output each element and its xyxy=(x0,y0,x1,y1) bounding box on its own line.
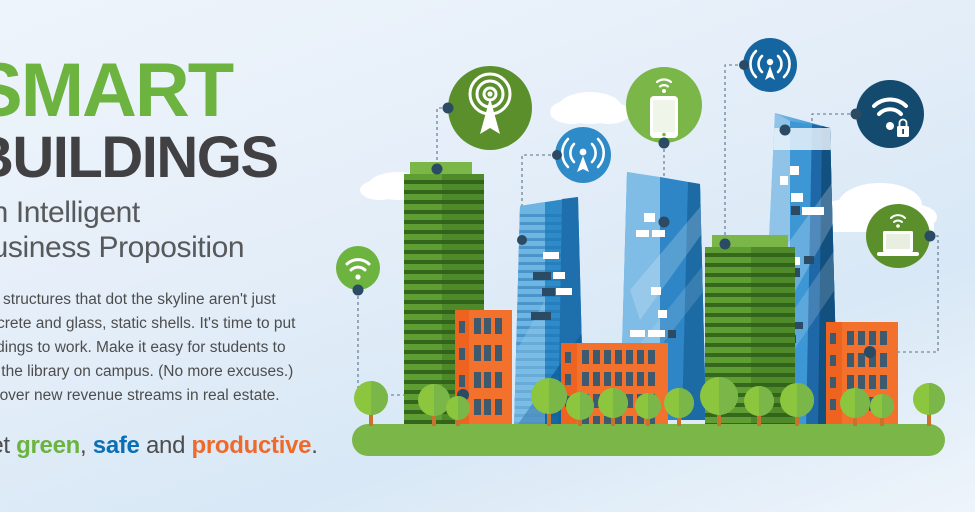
broadcast-radio-icon[interactable] xyxy=(739,38,797,92)
tagline-prefix: Get xyxy=(0,432,16,459)
subtitle-line-1: An Intelligent xyxy=(0,195,332,230)
cloud-left xyxy=(550,92,630,124)
secure-wifi-icon[interactable] xyxy=(851,80,925,148)
tree xyxy=(913,383,945,426)
subtitle-line-2: Business Proposition xyxy=(0,230,332,265)
tablet-wifi-icon[interactable] xyxy=(626,67,702,149)
tagline-sep-2: and xyxy=(140,432,192,459)
headline-buildings: BUILDINGS xyxy=(0,130,332,185)
tagline-word-green: green xyxy=(16,432,80,459)
tree xyxy=(664,388,694,426)
signal-antenna-icon[interactable] xyxy=(552,127,611,183)
wifi-icon[interactable] xyxy=(336,246,380,296)
tagline-word-productive: productive xyxy=(192,432,312,459)
broadcast-tower-icon[interactable] xyxy=(443,66,533,150)
tagline-suffix: . xyxy=(311,432,317,459)
tagline: Get green, safe and productive. xyxy=(0,432,332,460)
city-illustration xyxy=(330,0,975,512)
tree xyxy=(354,381,388,426)
body-paragraph: The structures that dot the skyline aren… xyxy=(0,288,312,408)
tagline-word-safe: safe xyxy=(93,432,140,459)
text-column: SMART BUILDINGS An Intelligent Business … xyxy=(0,56,332,460)
tagline-sep-1: , xyxy=(80,432,93,459)
headline-smart: SMART xyxy=(0,56,332,126)
infographic-canvas: SMART BUILDINGS An Intelligent Business … xyxy=(0,0,975,512)
ground xyxy=(352,424,945,456)
